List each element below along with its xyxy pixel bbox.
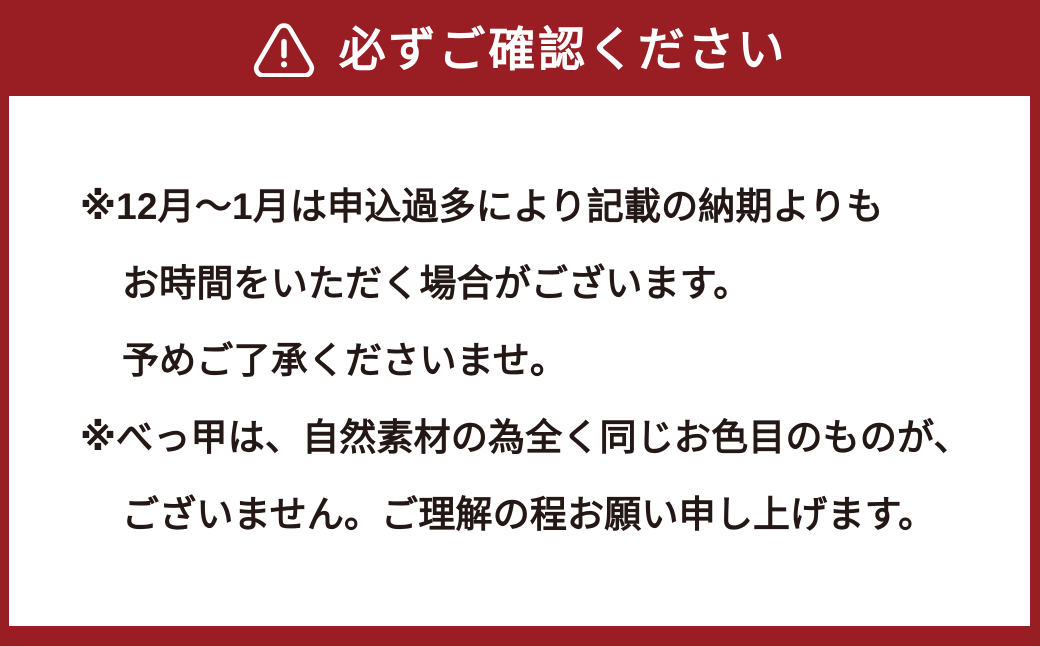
notice-title: 必ずご確認ください [339, 26, 787, 73]
warning-triangle-icon [253, 21, 315, 77]
notice-line: 予めご了承くださいませ。 [80, 342, 1030, 379]
notice-line: ※べっ甲は、自然素材の為全く同じお色目のものが、 [80, 419, 1030, 456]
notice-line: お時間をいただく場合がございます。 [80, 265, 1030, 302]
notice-card: 必ずご確認ください ※12月〜1月は申込過多により記載の納期よりも お時間をいた… [0, 0, 1040, 646]
notice-line: ※12月〜1月は申込過多により記載の納期よりも [80, 188, 1030, 225]
notice-header-bar: 必ずご確認ください [0, 0, 1040, 96]
notice-line: ございません。ご理解の程お願い申し上げます。 [80, 496, 1030, 533]
notice-body: ※12月〜1月は申込過多により記載の納期よりも お時間をいただく場合がございます… [9, 96, 1030, 626]
